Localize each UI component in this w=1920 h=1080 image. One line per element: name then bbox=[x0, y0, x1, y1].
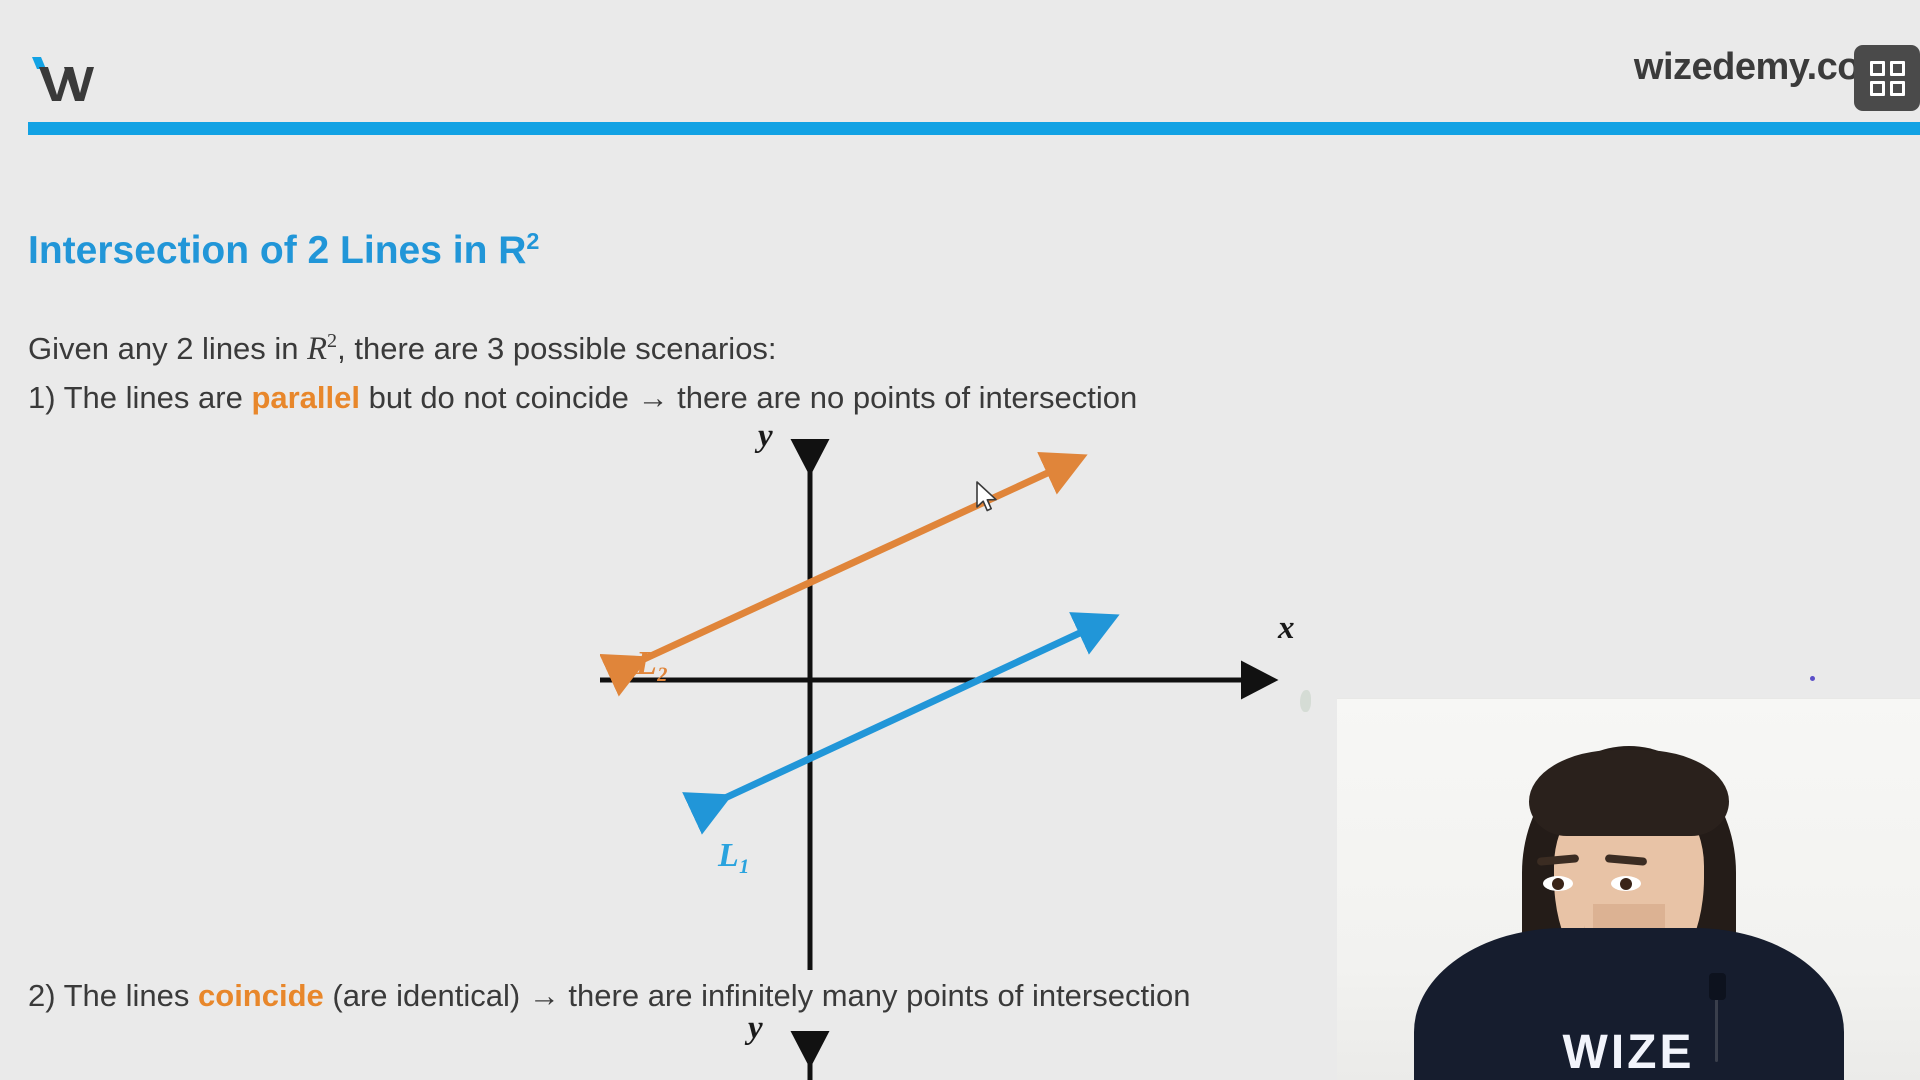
scenario-1-line: 1) The lines are parallel but do not coi… bbox=[28, 380, 1137, 416]
video-top-edge bbox=[1337, 698, 1920, 699]
slide-artifact-smudge bbox=[1300, 690, 1311, 712]
page-title: Intersection of 2 Lines in R2 bbox=[28, 228, 539, 273]
intro-math-R: R2 bbox=[307, 331, 337, 367]
x-axis-label: x bbox=[1278, 610, 1295, 647]
slide-canvas: wizedemy.co Intersection of 2 Lines in R… bbox=[0, 0, 1920, 1080]
presenter-fringe bbox=[1529, 750, 1729, 836]
grid-cell bbox=[1870, 81, 1885, 96]
intro-math-letter: R bbox=[307, 331, 327, 367]
coincident-lines-diagram: y bbox=[600, 1010, 1360, 1080]
presenter-eye-left bbox=[1543, 876, 1573, 891]
scenario-2-line: 2) The lines coincide (are identical) → … bbox=[28, 978, 1190, 1014]
slide-header: wizedemy.co bbox=[0, 0, 1920, 140]
grid-cell bbox=[1870, 61, 1885, 76]
intro-line: Given any 2 lines in R2, there are 3 pos… bbox=[28, 330, 777, 368]
scenario-2-keyword: coincide bbox=[198, 978, 324, 1013]
line-L2-label: L₂ bbox=[636, 645, 669, 683]
scenario-1-suffix: but do not coincide → there are no point… bbox=[360, 380, 1137, 415]
presenter-eye-right bbox=[1611, 876, 1641, 891]
presenter-torso: WIZE bbox=[1414, 928, 1844, 1080]
line-L2 bbox=[642, 458, 1080, 660]
page-title-text: Intersection of 2 Lines in R bbox=[28, 229, 526, 272]
scenario-2-prefix: 2) The lines bbox=[28, 978, 198, 1013]
grid-cell bbox=[1890, 81, 1905, 96]
line-L1 bbox=[725, 618, 1112, 798]
lapel-mic-icon bbox=[1709, 973, 1726, 1000]
wizedemy-logo-icon bbox=[28, 55, 96, 103]
y-axis-label-2: y bbox=[748, 1010, 763, 1047]
slide-artifact-dot bbox=[1810, 676, 1815, 681]
page-title-superscript: 2 bbox=[526, 228, 539, 254]
scenario-1-prefix: 1) The lines are bbox=[28, 380, 251, 415]
y-axis-label: y bbox=[758, 418, 773, 455]
header-accent-rule bbox=[28, 122, 1920, 135]
presenter-shirt-text: WIZE bbox=[1563, 1025, 1695, 1080]
brand-wordmark: wizedemy.co bbox=[1634, 46, 1860, 89]
scenario-1-keyword: parallel bbox=[251, 380, 360, 415]
grid-icon bbox=[1870, 61, 1905, 96]
grid-menu-button[interactable] bbox=[1854, 45, 1920, 111]
parallel-lines-diagram: y x L₂ L₁ bbox=[600, 430, 1360, 970]
presenter-video-overlay[interactable]: WIZE bbox=[1337, 698, 1920, 1080]
intro-suffix: , there are 3 possible scenarios: bbox=[337, 331, 776, 366]
scenario-2-suffix: (are identical) → there are infinitely m… bbox=[324, 978, 1191, 1013]
intro-prefix: Given any 2 lines in bbox=[28, 331, 307, 366]
grid-cell bbox=[1890, 61, 1905, 76]
intro-math-exponent: 2 bbox=[327, 330, 337, 352]
line-L1-label: L₁ bbox=[718, 837, 751, 875]
lapel-mic-wire bbox=[1715, 998, 1718, 1062]
